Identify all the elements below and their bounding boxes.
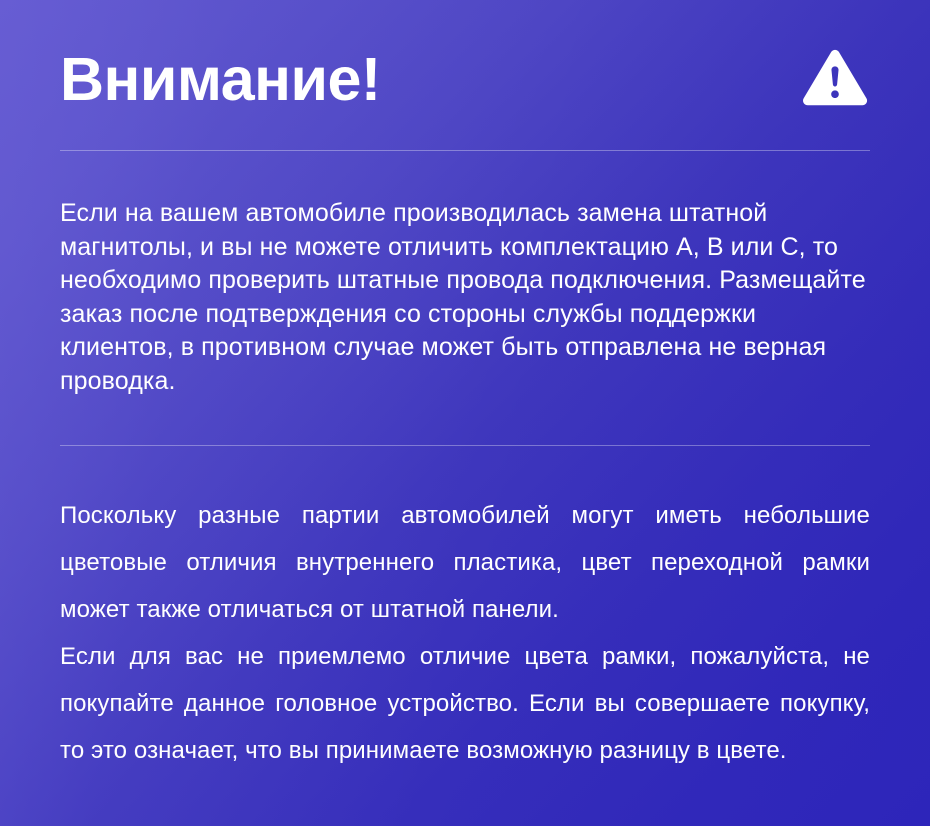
- page-title: Внимание!: [60, 49, 381, 110]
- color-difference-paragraph-2: Если для вас не приемлемо отличие цвета …: [60, 633, 870, 774]
- section-color-difference-warning: Поскольку разные партии автомобилей могу…: [60, 446, 870, 774]
- warning-triangle-icon: [802, 49, 868, 109]
- banner-content: Внимание! Если на вашем автомобиле произ…: [0, 0, 930, 774]
- wiring-warning-text: Если на вашем автомобиле производилась з…: [60, 197, 870, 399]
- banner-header: Внимание!: [60, 0, 870, 150]
- section-wiring-warning: Если на вашем автомобиле производилась з…: [60, 151, 870, 445]
- warning-banner: Внимание! Если на вашем автомобиле произ…: [0, 0, 930, 826]
- color-difference-paragraph-1: Поскольку разные партии автомобилей могу…: [60, 492, 870, 633]
